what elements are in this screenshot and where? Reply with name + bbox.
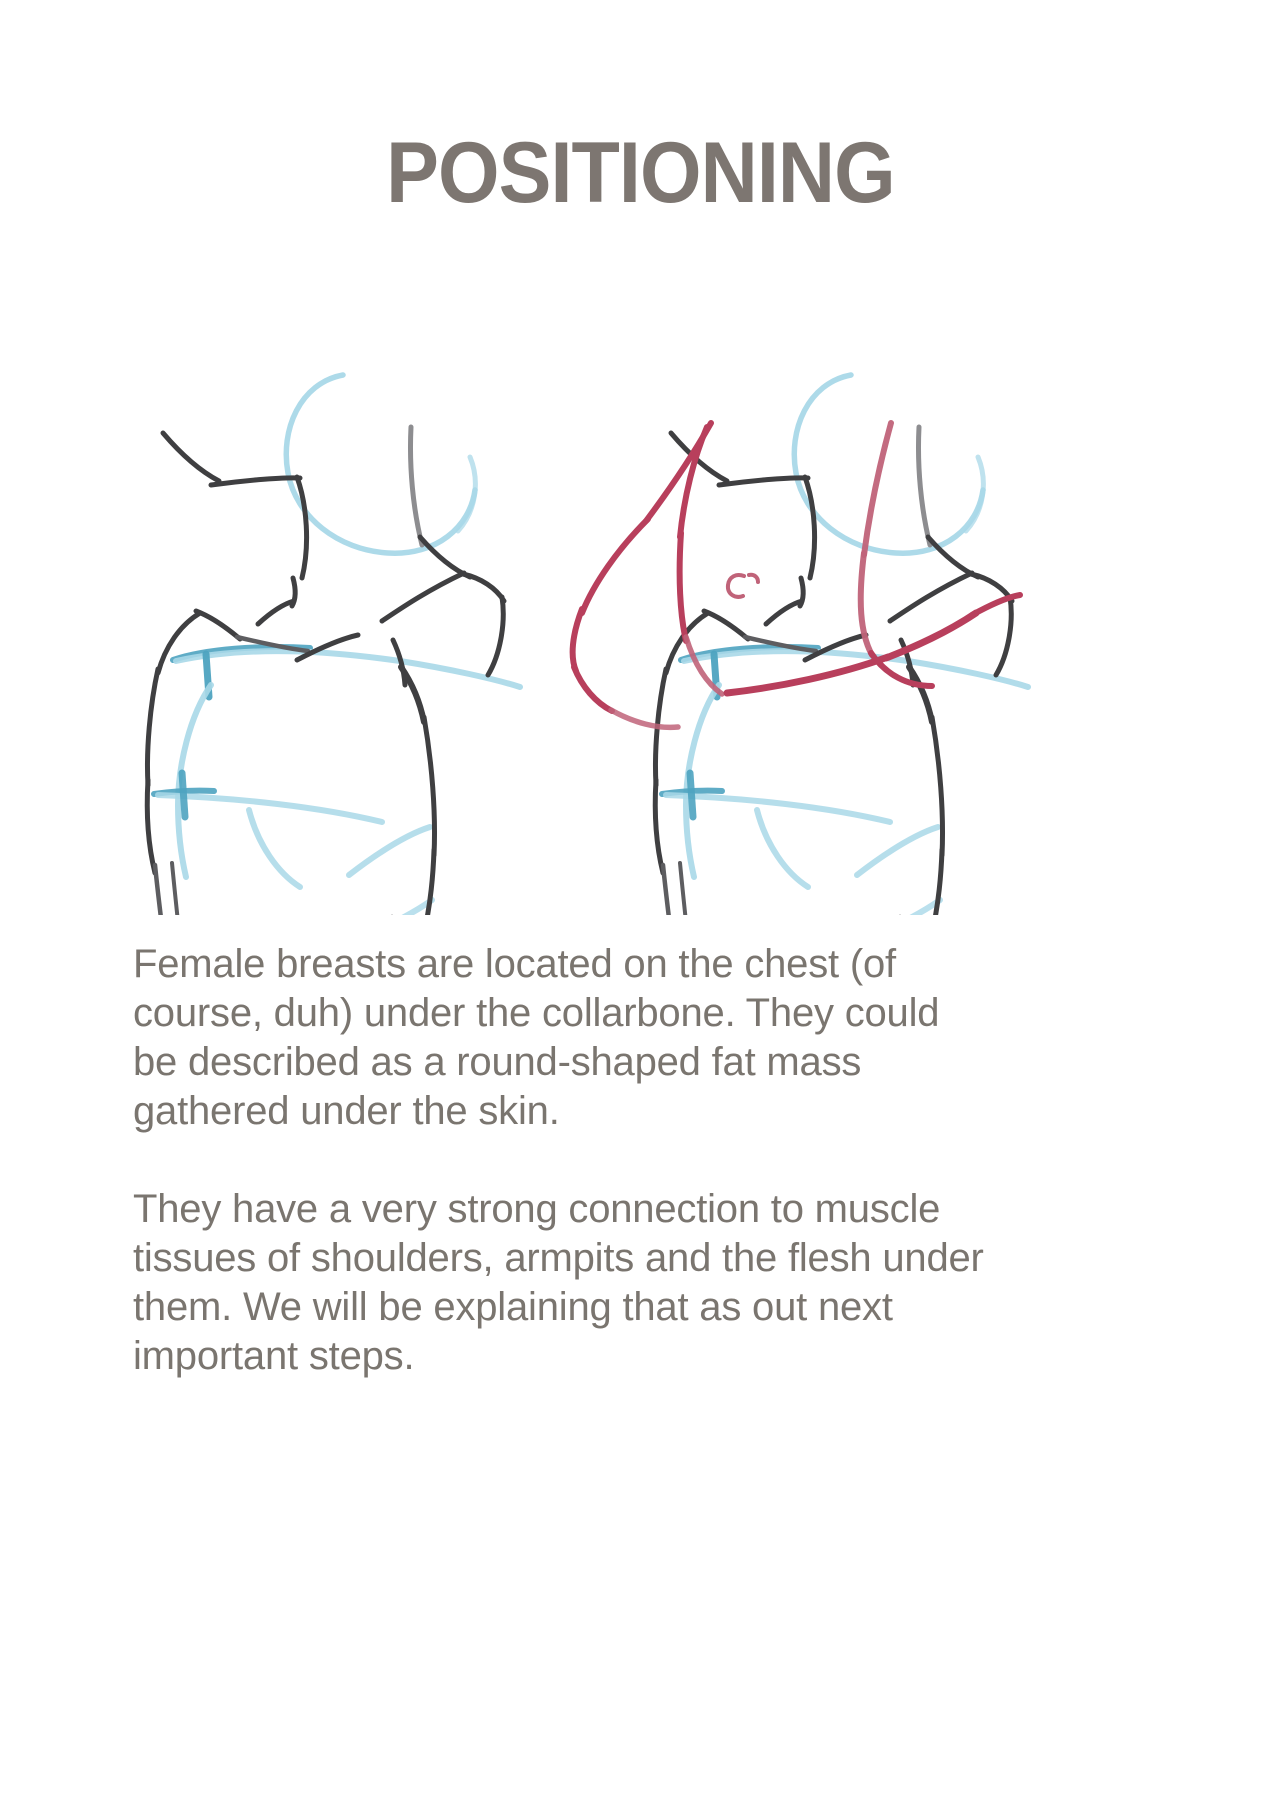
figure-left	[147, 375, 520, 915]
paragraph-2: They have a very strong connection to mu…	[133, 1185, 993, 1381]
page-title: POSITIONING	[386, 130, 895, 216]
anatomy-illustration	[0, 205, 1280, 915]
construction-lines-right	[662, 375, 1028, 915]
tutorial-page: POSITIONING	[0, 0, 1280, 1810]
construction-lines-left	[154, 375, 520, 915]
paragraph-1: Female breasts are located on the chest …	[133, 940, 993, 1136]
anatomy-svg	[0, 205, 1280, 915]
description-text: Female breasts are located on the chest …	[133, 940, 993, 1381]
figure-right	[573, 375, 1028, 915]
